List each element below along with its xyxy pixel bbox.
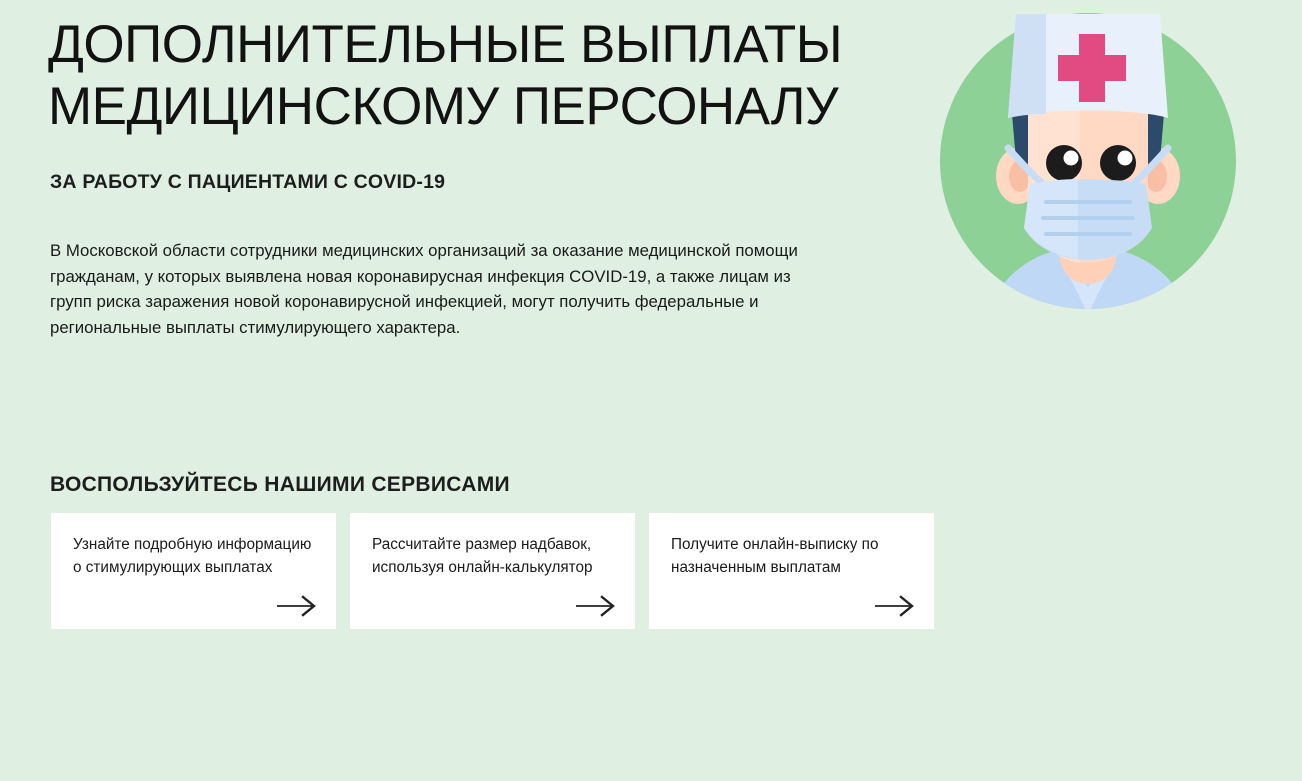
page-subtitle: ЗА РАБОТУ С ПАЦИЕНТАМИ С COVID-19: [50, 171, 445, 194]
eye-left-highlight: [1064, 151, 1079, 166]
arrow-right-icon: [874, 595, 916, 617]
service-card-label: Получите онлайн-выписку по назначенным в…: [671, 533, 915, 579]
eye-left: [1046, 145, 1082, 181]
service-card-label: Узнайте подробную информацию о стимулиру…: [73, 533, 317, 579]
service-card-info[interactable]: Узнайте подробную информацию о стимулиру…: [51, 513, 336, 629]
service-card-list: Узнайте подробную информацию о стимулиру…: [51, 513, 935, 629]
eye-right-highlight: [1118, 151, 1133, 166]
service-card-calculator[interactable]: Рассчитайте размер надбавок, используя о…: [350, 513, 635, 629]
services-heading: ВОСПОЛЬЗУЙТЕСЬ НАШИМИ СЕРВИСАМИ: [50, 473, 510, 497]
eye-right: [1100, 145, 1136, 181]
doctor-avatar-illustration: [938, 0, 1238, 316]
service-card-statement[interactable]: Получите онлайн-выписку по назначенным в…: [649, 513, 934, 629]
arrow-right-icon: [276, 595, 318, 617]
surgical-cap-side-band: [1008, 14, 1046, 118]
intro-paragraph: В Московской области сотрудники медицинс…: [50, 238, 810, 340]
service-card-label: Рассчитайте размер надбавок, используя о…: [372, 533, 616, 579]
arrow-right-icon: [575, 595, 617, 617]
page-title: ДОПОЛНИТЕЛЬНЫЕ ВЫПЛАТЫ МЕДИЦИНСКОМУ ПЕРС…: [48, 14, 868, 138]
page-content: ДОПОЛНИТЕЛЬНЫЕ ВЫПЛАТЫ МЕДИЦИНСКОМУ ПЕРС…: [48, 0, 878, 781]
